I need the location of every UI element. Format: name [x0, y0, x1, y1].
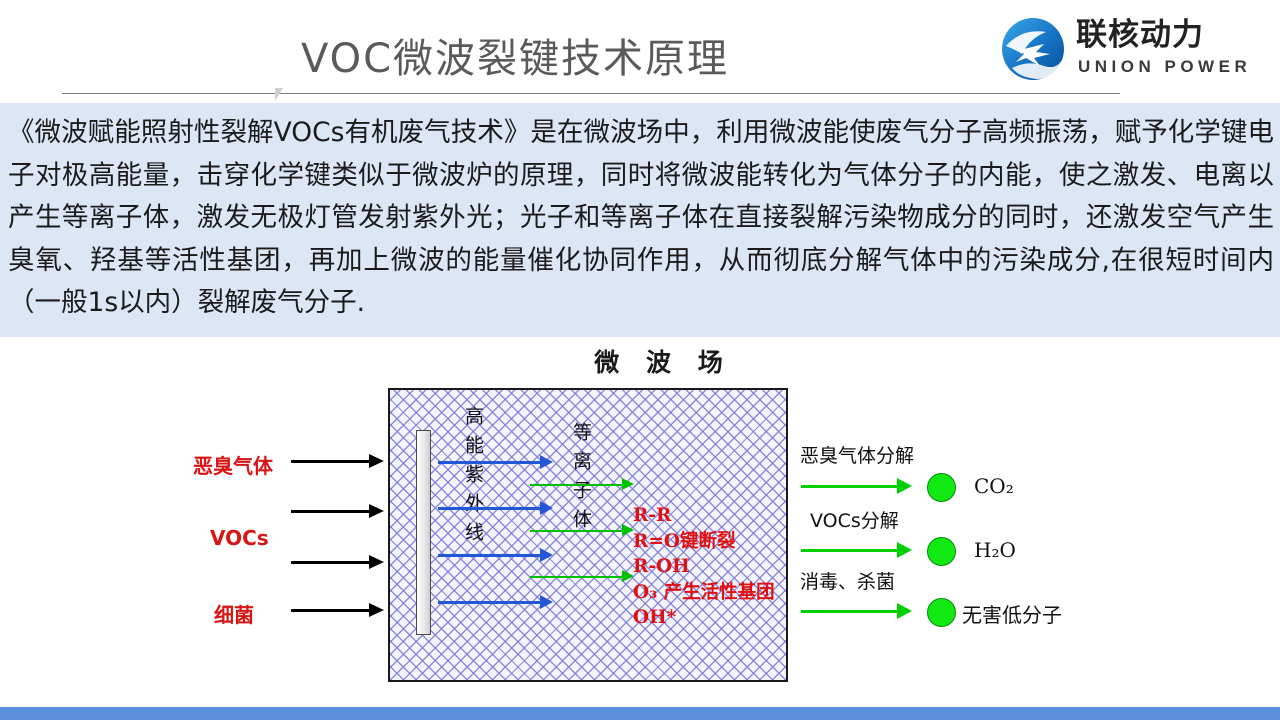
output-process-label-2: VOCs分解 — [810, 506, 899, 533]
output-product-2: H₂O — [974, 538, 1016, 562]
output-product-1: CO₂ — [974, 474, 1014, 498]
output-arrow-3-line — [801, 610, 897, 613]
electrodeless-uv-lamp-icon — [416, 430, 431, 635]
reaction-item-2: R=O键断裂 — [633, 529, 775, 555]
output-product-3: 无害低分子 — [962, 599, 1062, 628]
uv-arrow-3-line — [438, 554, 540, 557]
output-dot-3 — [927, 598, 956, 627]
diagram-title: 微 波 场 — [533, 343, 793, 379]
union-power-globe-icon — [1000, 16, 1066, 82]
uv-arrow-4-head — [540, 595, 553, 609]
description-paragraph: 《微波赋能照射性裂解VOCs有机废气技术》是在微波场中，利用微波能使废气分子高频… — [8, 112, 1274, 325]
plasma-arrow-1-head — [622, 478, 634, 490]
uv-arrow-2-line — [438, 507, 540, 510]
plasma-arrow-3-line — [530, 576, 628, 578]
brand-logo: 联核动力 UNION POWER — [1000, 14, 1272, 86]
inlet-arrow-1-line — [291, 460, 369, 463]
inlet-arrow-3-head — [369, 555, 384, 569]
uv-label: 高能紫外线 — [458, 406, 488, 551]
inlet-arrow-1-head — [369, 454, 384, 468]
footer-accent-bar — [0, 707, 1280, 720]
output-arrow-3-head — [897, 603, 912, 619]
title-divider — [62, 93, 1120, 94]
reaction-list: R-R R=O键断裂 R-OH O₃ 产生活性基团 OH* — [633, 503, 775, 631]
uv-arrow-1-line — [438, 461, 540, 464]
inlet-arrow-2-line — [291, 510, 369, 513]
divider-marker-icon — [275, 88, 283, 101]
reaction-item-3: R-OH — [633, 554, 775, 580]
inlet-arrow-2-head — [369, 504, 384, 518]
slide-canvas: VOC微波裂键技术原理 联核动力 UNION POWER 《微波赋能照射性裂解V… — [0, 0, 1280, 720]
microwave-chamber: 高能紫外线 等离子体 R-R R=O键断裂 R-OH O — [388, 388, 788, 682]
process-diagram: 微 波 场 恶臭气体 VOCs 细菌 高能紫外线 等离子体 — [188, 337, 1063, 707]
output-process-label-3: 消毒、杀菌 — [800, 567, 895, 594]
inlet-arrow-3-line — [291, 561, 369, 564]
reaction-item-5: OH* — [633, 605, 775, 631]
page-title: VOC微波裂键技术原理 — [0, 26, 1030, 84]
output-dot-2 — [927, 537, 956, 566]
output-process-label-1: 恶臭气体分解 — [800, 441, 914, 468]
uv-arrow-4-line — [438, 601, 540, 604]
plasma-arrow-1-line — [530, 484, 628, 486]
description-panel: 《微波赋能照射性裂解VOCs有机废气技术》是在微波场中，利用微波能使废气分子高频… — [0, 103, 1280, 337]
inlet-arrow-4-line — [291, 609, 369, 612]
uv-arrow-3-head — [540, 548, 553, 562]
inlet-arrow-4-head — [369, 603, 384, 617]
output-arrow-1-line — [801, 485, 897, 488]
reaction-item-4: O₃ 产生活性基团 — [633, 580, 775, 606]
plasma-label: 等离子体 — [566, 422, 596, 538]
uv-arrow-1-head — [540, 455, 553, 469]
inlet-label-bacteria: 细菌 — [214, 599, 254, 628]
output-dot-1 — [927, 473, 956, 502]
inlet-label-vocs: VOCs — [210, 526, 269, 550]
uv-arrow-2-head — [540, 501, 553, 515]
logo-chinese-name: 联核动力 — [1076, 18, 1204, 52]
logo-english-name: UNION POWER — [1078, 57, 1251, 77]
inlet-label-odorous-gas: 恶臭气体 — [193, 450, 273, 479]
reaction-item-1: R-R — [633, 503, 775, 529]
output-arrow-2-head — [897, 542, 912, 558]
plasma-arrow-2-line — [530, 530, 628, 532]
output-arrow-2-line — [801, 549, 897, 552]
output-arrow-1-head — [897, 478, 912, 494]
